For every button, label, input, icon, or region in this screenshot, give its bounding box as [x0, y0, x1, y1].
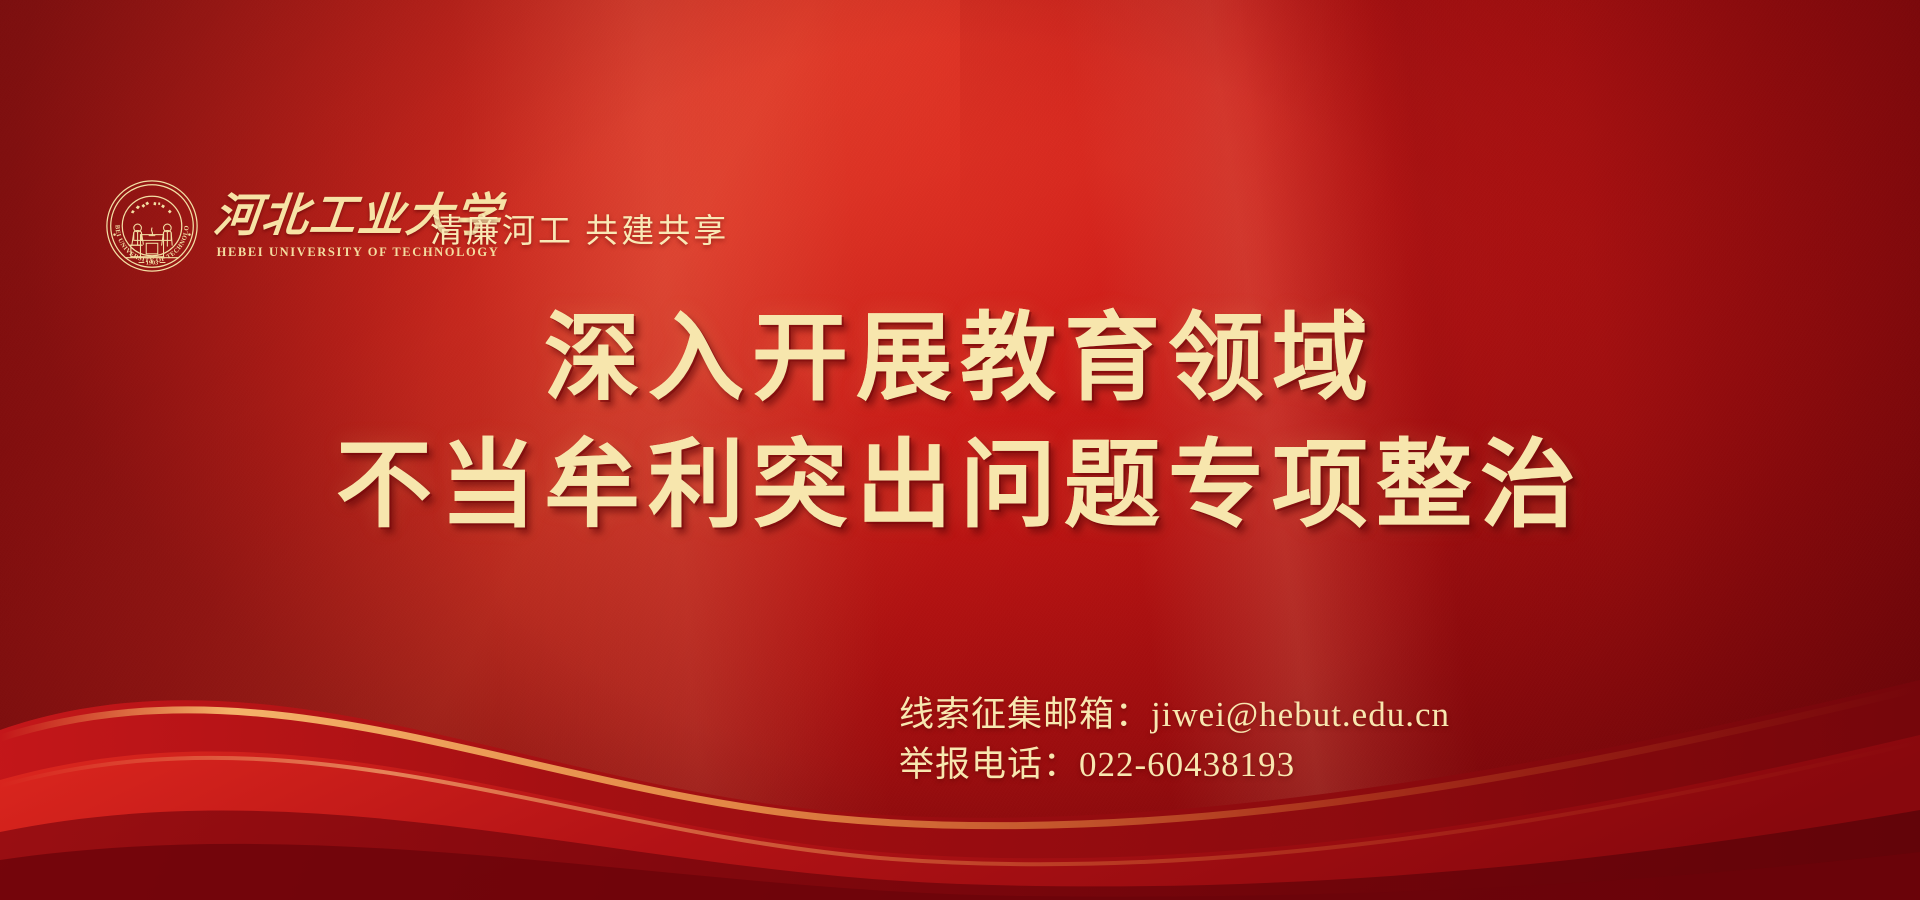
tip-email-line: 线索征集邮箱：jiwei@hebut.edu.cn	[899, 690, 1450, 740]
svg-text:1903: 1903	[146, 259, 158, 266]
university-seal-icon: HEBEI UNIVERSITY OF TECHNOLOGY 1903	[104, 178, 200, 274]
poster-banner: HEBEI UNIVERSITY OF TECHNOLOGY 1903 河北工业…	[0, 0, 1920, 900]
campaign-slogan: 清廉河工 共建共享	[430, 204, 729, 252]
svg-text:HEBEI UNIVERSITY OF TECHNOLOGY: HEBEI UNIVERSITY OF TECHNOLOGY	[104, 178, 191, 264]
report-phone-line: 举报电话：022-60438193	[899, 740, 1450, 790]
contact-block: 线索征集邮箱：jiwei@hebut.edu.cn 举报电话：022-60438…	[899, 690, 1450, 789]
